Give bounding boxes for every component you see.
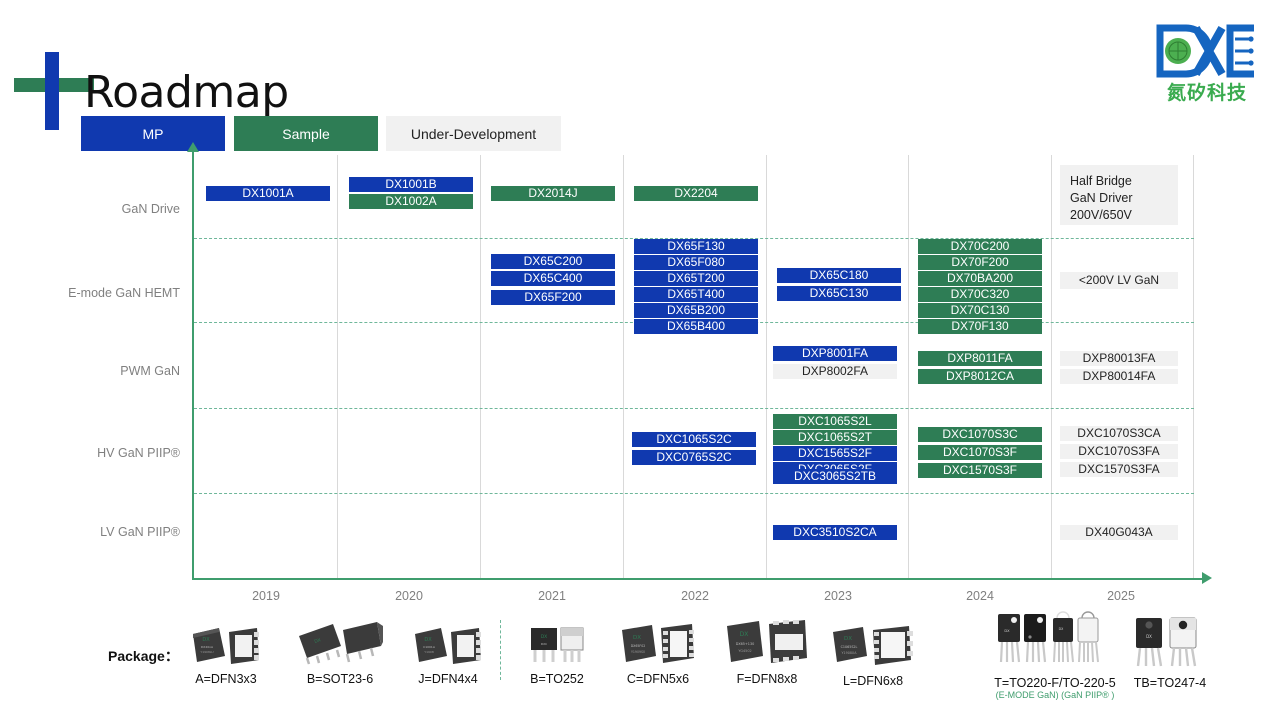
svg-text:DXC: DXC <box>541 642 547 646</box>
svg-text:C1065S2L: C1065S2L <box>841 645 858 649</box>
package-item[interactable]: DX DXC B=TO252 <box>516 620 598 686</box>
roadmap-bar[interactable]: DXC1065S2L <box>773 414 897 429</box>
package-divider <box>500 620 501 680</box>
package-caption: L=DFN6x8 <box>824 674 922 688</box>
svg-text:YG4502: YG4502 <box>738 649 751 653</box>
roadmap-bar[interactable]: DXP80013FA <box>1060 351 1178 366</box>
svg-text:DX: DX <box>1146 634 1152 639</box>
svg-text:Y1908: Y1908 <box>424 650 434 654</box>
roadmap-bar[interactable]: DXP8012CA <box>918 369 1042 384</box>
row-label-lv-gan-piip: LV GaN PIIP® <box>10 525 180 539</box>
roadmap-bar[interactable]: DX65C180 <box>777 268 901 283</box>
roadmap-bar[interactable]: DXP8011FA <box>918 351 1042 366</box>
roadmap-bar[interactable]: DX70F200 <box>918 255 1042 270</box>
svg-text:DX: DX <box>633 635 641 641</box>
roadmap-bar[interactable]: DXP8001FA <box>773 346 897 361</box>
roadmap-note-half-bridge[interactable]: Half Bridge GaN Driver 200V/650V <box>1060 165 1178 225</box>
to252-package-icon: DX DXC <box>516 620 598 668</box>
x-label-2025: 2025 <box>1076 589 1166 603</box>
gridline-vertical <box>1193 155 1194 578</box>
package-item[interactable]: DX DX20xA Y1908LU A=DFN3x3 <box>180 622 272 686</box>
roadmap-bar[interactable]: DX70F130 <box>918 319 1042 334</box>
svg-text:DX: DX <box>844 636 852 642</box>
roadmap-bar[interactable]: DXC1070S3CA <box>1060 426 1178 441</box>
dfn-package-icon: DX DX20xA Y1908LU <box>180 622 272 668</box>
svg-text:DX: DX <box>202 637 210 643</box>
roadmap-bar[interactable]: DX70C130 <box>918 303 1042 318</box>
to247-package-icon: DX <box>1120 614 1220 672</box>
svg-text:Y1908LU: Y1908LU <box>200 650 213 654</box>
package-item[interactable]: DX B=SOT23-6 <box>290 616 390 686</box>
dfn-package-icon: DX DX65F02 Y1909S0 <box>612 620 704 668</box>
dfn-package-icon: DX C1065S2L Y1908XA <box>824 620 922 670</box>
package-item[interactable]: DX C1001A Y1908 J=DFN4x4 <box>402 622 494 686</box>
roadmap-bar[interactable]: DX65B400 <box>634 319 758 334</box>
roadmap-bar[interactable]: DXC1570S3F <box>918 463 1042 478</box>
package-label: Package： <box>108 646 179 666</box>
y-axis-line <box>192 150 194 580</box>
svg-text:DX: DX <box>740 631 749 638</box>
roadmap-bar[interactable]: DXC1070S3FA <box>1060 444 1178 459</box>
package-item[interactable]: DX DX65F02 Y1909S0 C=DFN5x6 <box>612 620 704 686</box>
roadmap-bar[interactable]: DX65T400 <box>634 287 758 302</box>
roadmap-bar[interactable]: DX65C400 <box>491 271 615 286</box>
note-line-1: Half Bridge <box>1070 174 1132 188</box>
package-caption: J=DFN4x4 <box>402 672 494 686</box>
roadmap-bar[interactable]: DX1001A <box>206 186 330 201</box>
svg-text:Y1908XA: Y1908XA <box>842 651 858 655</box>
roadmap-slide: Roadmap 氮矽科技 MP Sample Under-Development <box>0 0 1280 720</box>
svg-text:DX: DX <box>424 637 432 643</box>
row-label-hv-gan-piip: HV GaN PIIP® <box>10 446 180 460</box>
roadmap-bar[interactable]: DX70C200 <box>918 239 1042 254</box>
row-label-gan-drive: GaN Drive <box>10 202 180 216</box>
package-item[interactable]: DX DX T=TO220-F/TO-220-5 (E-MODE GaN) (G… <box>972 610 1138 700</box>
roadmap-bar[interactable]: DXC1565S2F <box>773 446 897 461</box>
svg-text:DX20xA: DX20xA <box>201 645 214 649</box>
package-item[interactable]: DX C1065S2L Y1908XA L=DFN6x8 <box>824 620 922 688</box>
package-caption: A=DFN3x3 <box>180 672 272 686</box>
package-caption: C=DFN5x6 <box>612 672 704 686</box>
svg-text:DX: DX <box>1059 627 1064 631</box>
gridline-vertical <box>1051 155 1052 578</box>
roadmap-bar[interactable]: DX65C130 <box>777 286 901 301</box>
roadmap-bar[interactable]: DX2014J <box>491 186 615 201</box>
roadmap-bar[interactable]: DX65F130 <box>634 239 758 254</box>
svg-text:DX: DX <box>1004 629 1010 633</box>
gridline-horizontal <box>194 493 1194 494</box>
to220-package-icon: DX DX <box>972 610 1138 672</box>
roadmap-bar[interactable]: DXC1070S3F <box>918 445 1042 460</box>
package-caption: B=SOT23-6 <box>290 672 390 686</box>
roadmap-bar[interactable]: <200V LV GaN <box>1060 272 1178 289</box>
roadmap-bar[interactable]: DX65F080 <box>634 255 758 270</box>
roadmap-bar[interactable]: DX70BA200 <box>918 271 1042 286</box>
gridline-vertical <box>623 155 624 578</box>
x-label-2024: 2024 <box>935 589 1025 603</box>
roadmap-bar[interactable]: DXC0765S2C <box>632 450 756 465</box>
roadmap-bar[interactable]: DXC3510S2CA <box>773 525 897 540</box>
svg-text:DX65F02: DX65F02 <box>631 644 646 648</box>
x-axis-arrow <box>1202 572 1212 584</box>
roadmap-bar[interactable]: DX1002A <box>349 194 473 209</box>
roadmap-bar[interactable]: DX65F200 <box>491 290 615 305</box>
roadmap-bar[interactable]: DXP80014FA <box>1060 369 1178 384</box>
svg-text:C1001A: C1001A <box>423 645 436 649</box>
package-caption: F=DFN8x8 <box>718 672 816 686</box>
x-label-2023: 2023 <box>793 589 883 603</box>
roadmap-bar[interactable]: DX1001B <box>349 177 473 192</box>
roadmap-bar[interactable]: DXC1570S3FA <box>1060 462 1178 477</box>
gridline-vertical <box>480 155 481 578</box>
svg-text:DX65+130: DX65+130 <box>736 642 755 646</box>
x-label-2021: 2021 <box>507 589 597 603</box>
package-item[interactable]: DX DX65+130 YG4502 F=DFN8x8 <box>718 616 816 686</box>
note-line-2: GaN Driver <box>1070 191 1133 205</box>
x-label-2019: 2019 <box>221 589 311 603</box>
roadmap-bar[interactable]: DX2204 <box>634 186 758 201</box>
x-axis-line <box>192 578 1204 580</box>
gridline-vertical <box>908 155 909 578</box>
sot23-package-icon: DX <box>290 616 390 668</box>
roadmap-bar[interactable]: DXC3065S2TB <box>773 469 897 484</box>
x-label-2020: 2020 <box>364 589 454 603</box>
roadmap-bar[interactable]: DX70C320 <box>918 287 1042 302</box>
roadmap-bar[interactable]: DX65T200 <box>634 271 758 286</box>
svg-text:Y1909S0: Y1909S0 <box>631 650 645 654</box>
roadmap-bar[interactable]: DX40G043A <box>1060 525 1178 540</box>
roadmap-bar[interactable]: DXC1065S2C <box>632 432 756 447</box>
note-line-3: 200V/650V <box>1070 208 1132 222</box>
svg-text:DX: DX <box>541 634 548 640</box>
package-sub-caption: (E-MODE GaN) (GaN PIIP® ) <box>972 690 1138 700</box>
gridline-vertical <box>766 155 767 578</box>
package-caption: B=TO252 <box>516 672 598 686</box>
gridline-vertical <box>337 155 338 578</box>
row-label-pwm-gan: PWM GaN <box>10 364 180 378</box>
roadmap-bar[interactable]: DX65C200 <box>491 254 615 269</box>
gridline-horizontal <box>194 408 1194 409</box>
roadmap-bar[interactable]: DXC1070S3C <box>918 427 1042 442</box>
y-axis-arrow <box>187 142 199 152</box>
dfn-package-icon: DX DX65+130 YG4502 <box>718 616 816 668</box>
package-item[interactable]: DX TB=TO247-4 <box>1120 614 1220 690</box>
row-label-emode-gan-hemt: E-mode GaN HEMT <box>10 286 180 300</box>
roadmap-bar[interactable]: DX65B200 <box>634 303 758 318</box>
roadmap-bar[interactable]: DXP8002FA <box>773 364 897 379</box>
roadmap-bar[interactable]: DXC1065S2T <box>773 430 897 445</box>
dfn-package-icon: DX C1001A Y1908 <box>402 622 494 668</box>
package-caption: T=TO220-F/TO-220-5 <box>972 676 1138 690</box>
package-caption: TB=TO247-4 <box>1120 676 1220 690</box>
x-label-2022: 2022 <box>650 589 740 603</box>
